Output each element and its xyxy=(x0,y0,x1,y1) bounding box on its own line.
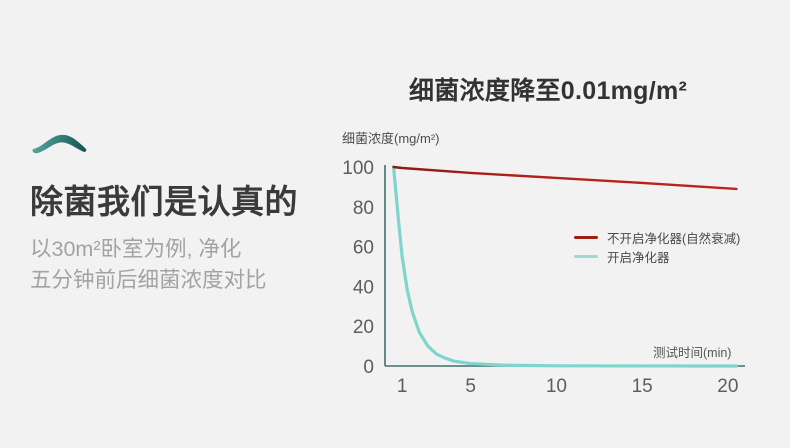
chart-legend: 不开启净化器(自然衰减) 开启净化器 xyxy=(574,228,740,266)
promo-chart-page: 除菌我们是认真的 以30m²卧室为例, 净化 五分钟前后细菌浓度对比 细菌浓度降… xyxy=(0,0,790,448)
y-tick-label: 20 xyxy=(353,317,374,338)
x-tick-label: 15 xyxy=(632,376,653,397)
y-tick-label: 100 xyxy=(342,158,374,179)
promo-heading: 除菌我们是认真的 xyxy=(30,181,350,222)
legend-swatch-purifier xyxy=(574,255,598,258)
x-tick-label: 5 xyxy=(465,376,476,397)
x-tick-label: 20 xyxy=(717,376,738,397)
promo-subtitle-line-2: 五分钟前后细菌浓度对比 xyxy=(30,265,350,296)
legend-swatch-natural xyxy=(574,236,598,239)
legend-label-natural: 不开启净化器(自然衰减) xyxy=(607,228,740,247)
chart-container: 细菌浓度(mg/m²) 测试时间(min) 020406080100151015… xyxy=(330,120,780,400)
series-line-natural xyxy=(394,167,737,189)
y-tick-label: 40 xyxy=(353,277,374,298)
x-tick-label: 10 xyxy=(546,376,567,397)
legend-item-purifier: 开启净化器 xyxy=(574,247,740,266)
y-tick-label: 60 xyxy=(353,238,374,259)
promo-block: 除菌我们是认真的 以30m²卧室为例, 净化 五分钟前后细菌浓度对比 xyxy=(30,128,350,295)
legend-item-natural: 不开启净化器(自然衰减) xyxy=(574,228,740,247)
legend-label-purifier: 开启净化器 xyxy=(607,247,670,266)
promo-subtitle: 以30m²卧室为例, 净化 五分钟前后细菌浓度对比 xyxy=(30,234,350,295)
series-line-purifier xyxy=(394,167,737,366)
x-tick-label: 1 xyxy=(397,376,408,397)
y-tick-label: 0 xyxy=(363,357,374,378)
brand-swoosh-logo-icon xyxy=(30,128,94,158)
y-tick-label: 80 xyxy=(353,198,374,219)
chart-title: 细菌浓度降至0.01mg/m² xyxy=(409,71,687,107)
promo-subtitle-line-1: 以30m²卧室为例, 净化 xyxy=(30,234,350,265)
